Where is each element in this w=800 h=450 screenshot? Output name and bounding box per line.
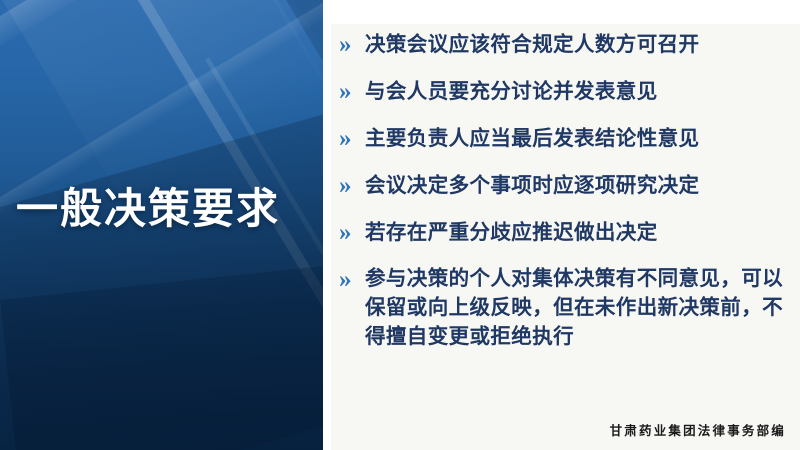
bullet-list: » 决策会议应该符合规定人数方可召开 » 与会人员要充分讨论并发表意见 » 主要…: [339, 30, 794, 352]
facade-shadow-2: [0, 258, 323, 450]
facade-mullion-3: [205, 57, 323, 450]
list-item-label: 会议决定多个事项时应逐项研究决定: [365, 171, 794, 201]
chevron-double-right-icon: »: [339, 124, 365, 154]
list-item-label: 与会人员要充分讨论并发表意见: [365, 77, 794, 107]
chevron-double-right-icon: »: [339, 265, 365, 295]
list-item-label: 若存在严重分歧应推迟做出决定: [365, 218, 794, 248]
facade-shadow-1: [0, 96, 323, 450]
content-panel: » 决策会议应该符合规定人数方可召开 » 与会人员要充分讨论并发表意见 » 主要…: [331, 24, 800, 450]
list-item: » 若存在严重分歧应推迟做出决定: [339, 218, 794, 248]
list-item: » 决策会议应该符合规定人数方可召开: [339, 30, 794, 60]
chevron-double-right-icon: »: [339, 218, 365, 248]
facade-beam-1: [0, 0, 323, 62]
list-item-label: 参与决策的个人对集体决策有不同意见，可以保留或向上级反映，但在未作出新决策前，不…: [365, 265, 794, 352]
chevron-double-right-icon: »: [339, 30, 365, 60]
list-item: » 与会人员要充分讨论并发表意见: [339, 77, 794, 107]
page-title: 一般决策要求: [16, 186, 316, 236]
list-item-label: 主要负责人应当最后发表结论性意见: [365, 124, 794, 154]
list-item: » 主要负责人应当最后发表结论性意见: [339, 124, 794, 154]
title-panel: 一般决策要求: [0, 0, 323, 450]
chevron-double-right-icon: »: [339, 77, 365, 107]
list-item-label: 决策会议应该符合规定人数方可召开: [365, 30, 794, 60]
footer-attribution: 甘肃药业集团法律事务部编: [610, 420, 786, 439]
list-item: » 会议决定多个事项时应逐项研究决定: [339, 171, 794, 201]
chevron-double-right-icon: »: [339, 171, 365, 201]
slide-canvas: 一般决策要求 » 决策会议应该符合规定人数方可召开 » 与会人员要充分讨论并发表…: [0, 0, 800, 450]
list-item: » 参与决策的个人对集体决策有不同意见，可以保留或向上级反映，但在未作出新决策前…: [339, 265, 794, 352]
